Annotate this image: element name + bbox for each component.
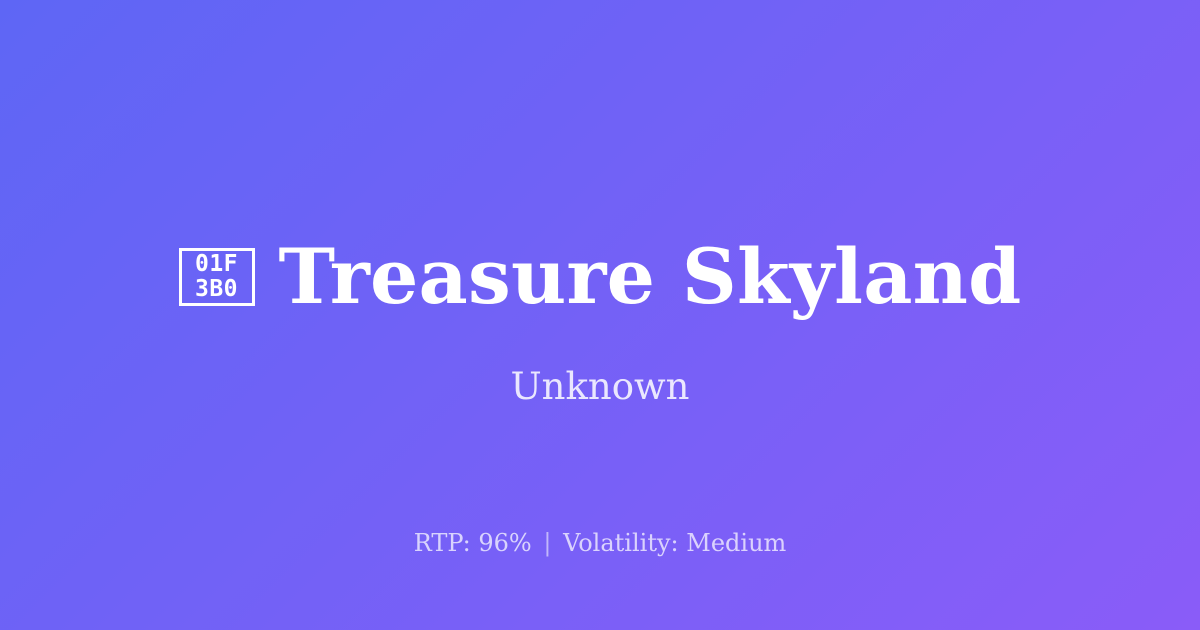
subtitle: Unknown	[0, 363, 1200, 411]
tofu-codepoint-lower: 3B0	[195, 277, 238, 302]
volatility-label: Volatility: Medium	[563, 529, 786, 557]
rtp-label: RTP: 96%	[414, 529, 532, 557]
og-preview-card: 01F 3B0 Treasure Skyland Unknown RTP: 96…	[0, 0, 1200, 630]
title-row: 01F 3B0 Treasure Skyland	[0, 232, 1200, 322]
tofu-codepoint-upper: 01F	[195, 252, 238, 277]
slot-machine-emoji-icon: 01F 3B0	[179, 248, 255, 306]
meta-line: RTP: 96% | Volatility: Medium	[0, 528, 1200, 558]
page-title: Treasure Skyland	[279, 232, 1022, 322]
meta-separator: |	[539, 529, 555, 557]
